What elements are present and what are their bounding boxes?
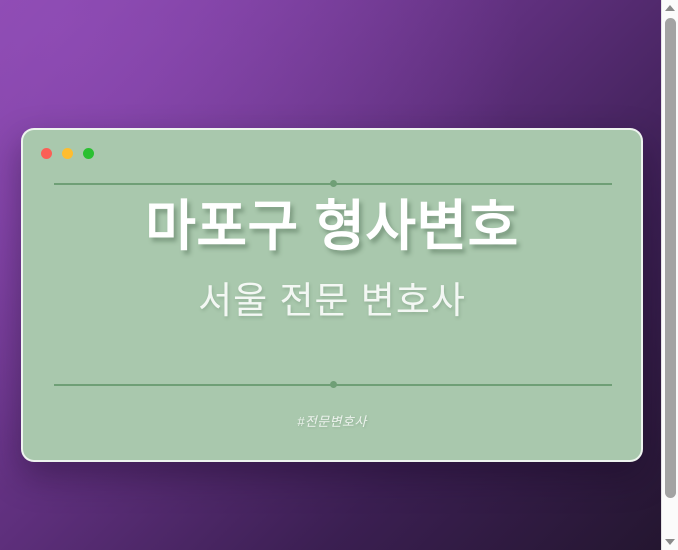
hashtag-label: #전문변호사 [23,411,641,430]
card-text-block: 마포구 형사변호 서울 전문 변호사 [23,194,641,323]
divider-bottom-node-icon [330,381,337,388]
divider-top-node-icon [330,180,337,187]
page-title: 마포구 형사변호 [23,194,641,259]
scroll-up-button[interactable] [662,0,678,16]
vertical-scrollbar[interactable] [661,0,678,550]
scrollbar-thumb[interactable] [665,18,676,498]
scroll-down-arrow-icon [665,539,675,545]
minimize-button-dot[interactable] [62,148,73,159]
gradient-background: 마포구 형사변호 서울 전문 변호사 #전문변호사 [0,0,661,550]
scroll-up-arrow-icon [665,5,675,11]
maximize-button-dot[interactable] [83,148,94,159]
divider-top [54,180,612,187]
divider-bottom [54,381,612,388]
page-subtitle: 서울 전문 변호사 [23,279,641,323]
scroll-down-button[interactable] [662,534,678,550]
close-button-dot[interactable] [41,148,52,159]
promo-card: 마포구 형사변호 서울 전문 변호사 #전문변호사 [21,128,643,462]
screenshot-viewport: 마포구 형사변호 서울 전문 변호사 #전문변호사 [0,0,678,550]
window-traffic-lights [41,148,94,159]
